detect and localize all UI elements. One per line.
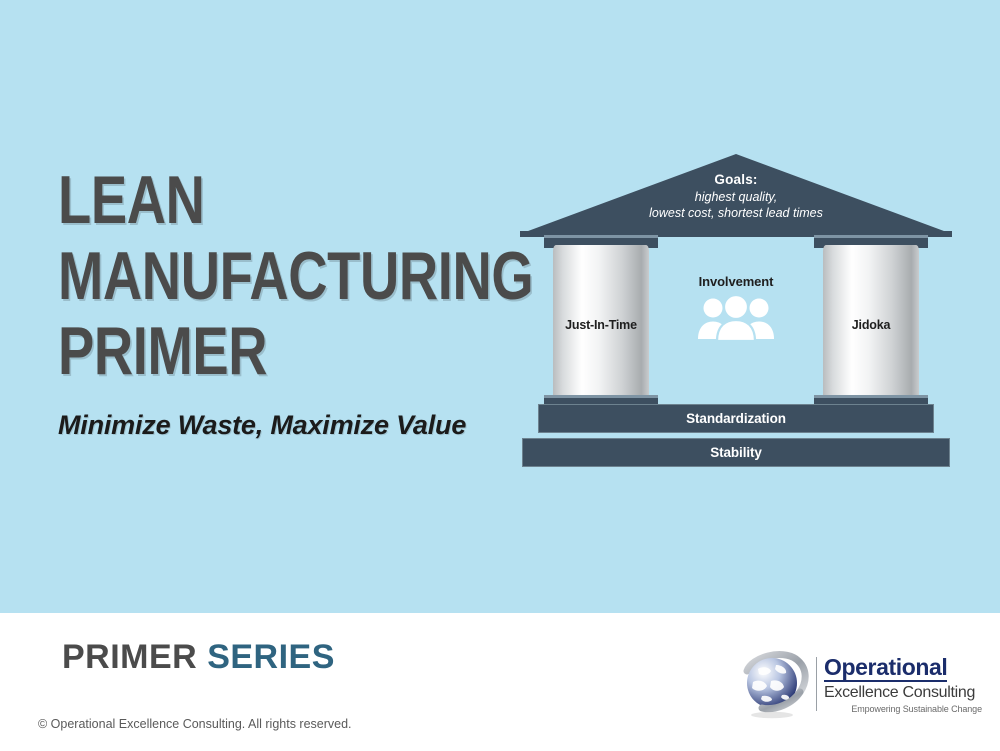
title-line-3: PRIMER [58,319,434,384]
series-word-primer: PRIMER [62,638,197,676]
foundation-stability-label: Stability [710,445,762,460]
foundation-standardization: Standardization [538,404,934,433]
pillar-left-label: Just-In-Time [553,318,649,332]
logo-main-word: Operational [824,655,947,682]
logo-text-group: Operational Excellence Consulting Empowe… [824,655,984,714]
involvement-group: Involvement [686,274,786,341]
title-line-1: LEAN [58,168,434,233]
logo-sub-word: Excellence Consulting [824,684,984,702]
people-group-icon [697,295,775,341]
involvement-label: Involvement [686,274,786,289]
foundation-standardization-label: Standardization [686,411,786,426]
logo-tagline: Empowering Sustainable Change [824,704,984,714]
pillar-right-label: Jidoka [823,318,919,332]
slide-stage: LEAN MANUFACTURING PRIMER Minimize Waste… [0,0,1000,613]
pillar-right-shaft: Jidoka [823,245,919,405]
lean-house-diagram: Goals: highest quality, lowest cost, sho… [518,152,954,478]
roof-shape [518,152,954,238]
foundation-stability: Stability [522,438,950,467]
subtitle: Minimize Waste, Maximize Value [58,410,528,441]
copyright-text: © Operational Excellence Consulting. All… [38,717,352,731]
title-line-2: MANUFACTURING [58,244,434,309]
company-logo: Operational Excellence Consulting Empowe… [738,649,978,731]
slide-footer: PRIMER SERIES © Operational Excellence C… [0,613,1000,751]
globe-icon [738,651,812,721]
title-block: LEAN MANUFACTURING PRIMER Minimize Waste… [58,168,528,441]
primer-series-wordmark: PRIMER SERIES [62,638,335,677]
pillar-left-shaft: Just-In-Time [553,245,649,405]
logo-divider [816,657,817,711]
slide-canvas: LEAN MANUFACTURING PRIMER Minimize Waste… [0,0,1000,751]
series-word-series: SERIES [207,638,335,676]
